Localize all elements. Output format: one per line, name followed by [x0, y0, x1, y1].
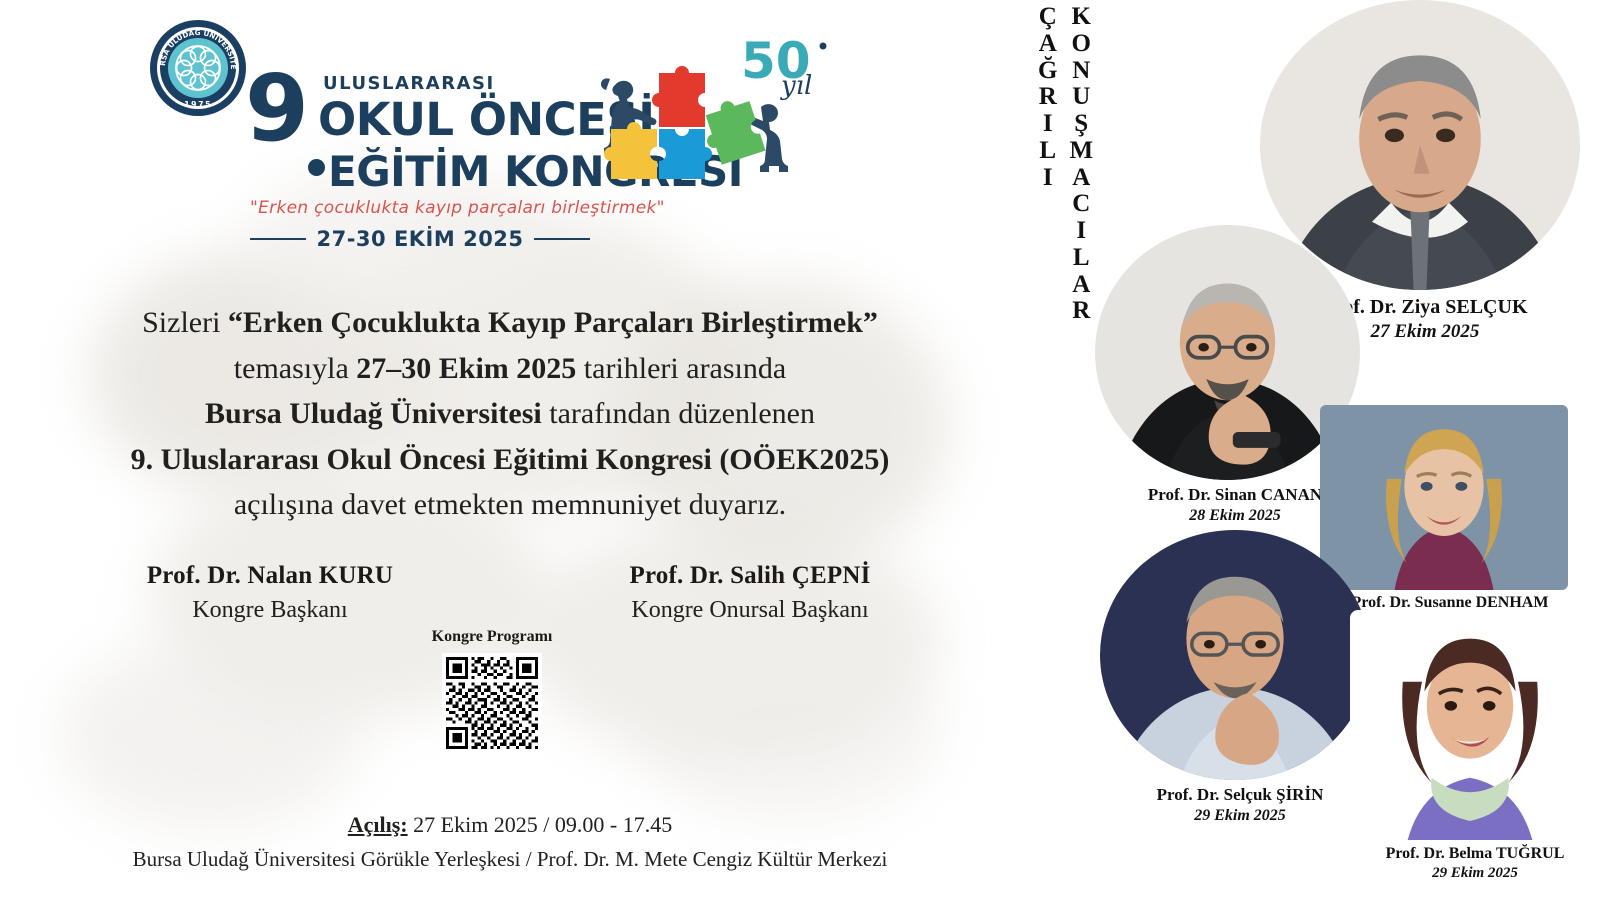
invite-l5-p1: açılışına davet etmekten memnuniyet duya… [234, 488, 786, 521]
speaker-card: Prof. Dr. Belma TUĞRUL 29 Ekim 2025 [1350, 610, 1600, 882]
heading-letter: R [1072, 298, 1090, 325]
puzzle-piece-blue [659, 129, 712, 179]
heading-letter: K [1072, 4, 1091, 31]
invite-l2-p1: temasıyla [234, 352, 356, 385]
congress-dates: 27-30 EKİM 2025 [316, 227, 523, 251]
invite-line-3: Bursa Uludağ Üniversitesi tarafından düz… [40, 391, 980, 437]
invitation-text: Sizleri “Erken Çocuklukta Kayıp Parçalar… [40, 300, 980, 528]
heading-letter: A [1072, 165, 1090, 192]
heading-letter: O [1072, 31, 1091, 58]
date-rule-right [534, 238, 590, 240]
congress-edition-number: 9 [245, 63, 306, 155]
invite-line-5: açılışına davet etmekten memnuniyet duya… [40, 482, 980, 528]
speakers-panel: ÇAĞRILI KONUŞMACILAR Prof. Dr. Ziya SELÇ… [1020, 0, 1600, 900]
speaker-date: 29 Ekim 2025 [1100, 807, 1380, 825]
bullet-dot-icon [308, 159, 325, 176]
heading-letter: L [1073, 245, 1090, 272]
heading-letter: A [1072, 272, 1090, 299]
puzzle-piece-red [652, 66, 705, 127]
invitation-panel: BURSA ULUDAĞ ÜNİVERSİTESİ 1975 9 ULUSLAR… [0, 0, 1020, 900]
heading-letter: L [1039, 138, 1056, 165]
anniversary-50-badge: 50 yıl [735, 22, 845, 102]
signature-row: Prof. Dr. Nalan KURU Kongre Başkanı Prof… [60, 562, 960, 624]
speaker-date: 29 Ekim 2025 [1350, 865, 1600, 882]
signature-role: Kongre Onursal Başkanı [540, 597, 960, 624]
invite-line-2: temasıyla 27–30 Ekim 2025 tarihleri aras… [40, 346, 980, 392]
speaker-card: Prof. Dr. Selçuk ŞİRİN 29 Ekim 2025 [1100, 530, 1380, 825]
heading-letter: A [1039, 31, 1057, 58]
university-seal-logo: BURSA ULUDAĞ ÜNİVERSİTESİ 1975 [148, 18, 248, 118]
speaker-name: Prof. Dr. Belma TUĞRUL [1350, 845, 1600, 863]
puzzle-piece-yellow [604, 122, 657, 179]
heading-letter: N [1072, 58, 1090, 85]
signature-name: Prof. Dr. Nalan KURU [60, 562, 480, 590]
congress-date-bar: 27-30 EKİM 2025 [250, 227, 590, 251]
signature-congress-chair: Prof. Dr. Nalan KURU Kongre Başkanı [60, 562, 480, 624]
opening-value: 27 Ekim 2025 / 09.00 - 17.45 [408, 812, 673, 837]
signature-honorary-chair: Prof. Dr. Salih ÇEPNİ Kongre Onursal Baş… [540, 562, 960, 624]
invite-line-1: Sizleri “Erken Çocuklukta Kayıp Parçalar… [40, 300, 980, 346]
heading-letter: Ğ [1038, 58, 1057, 85]
signature-name: Prof. Dr. Salih ÇEPNİ [540, 562, 960, 590]
heading-letter: I [1076, 218, 1086, 245]
qr-code-image[interactable] [442, 653, 542, 753]
speaker-photo [1350, 610, 1590, 840]
invite-l3-p1: Bursa Uludağ Üniversitesi [205, 397, 542, 430]
invite-l3-p2: tarafından düzenlenen [542, 397, 815, 430]
heading-letter: Ç [1039, 4, 1057, 31]
opening-label: Açılış: [348, 812, 408, 837]
date-rule-left [250, 238, 306, 240]
congress-tagline: "Erken çocuklukta kayıp parçaları birleş… [250, 198, 860, 218]
footer-info: Açılış: 27 Ekim 2025 / 09.00 - 17.45 Bur… [40, 812, 980, 872]
heading-column-cagrili: ÇAĞRILI [1038, 4, 1057, 325]
speakers-heading: ÇAĞRILI KONUŞMACILAR [1038, 4, 1093, 325]
heading-letter: R [1039, 84, 1057, 111]
invite-l4-p1: 9. Uluslararası Okul Öncesi Eğitimi Kong… [131, 443, 890, 476]
invite-line-4: 9. Uluslararası Okul Öncesi Eğitimi Kong… [40, 437, 980, 483]
anniversary-word: yıl [780, 71, 812, 101]
opening-info: Açılış: 27 Ekim 2025 / 09.00 - 17.45 [40, 812, 980, 838]
heading-letter: C [1072, 191, 1090, 218]
signature-role: Kongre Başkanı [60, 597, 480, 624]
invite-l1-p2: “Erken Çocuklukta Kayıp Parçaları Birleş… [228, 306, 878, 339]
invite-l2-p2: 27–30 Ekim 2025 [356, 352, 576, 385]
speaker-photo [1100, 530, 1370, 780]
invite-l1-p1: Sizleri [142, 306, 228, 339]
heading-letter: I [1043, 165, 1053, 192]
heading-letter: Ş [1074, 111, 1088, 138]
heading-letter: I [1043, 111, 1053, 138]
congress-kicker: ULUSLARARASI [323, 73, 495, 94]
header-logo-row: BURSA ULUDAĞ ÜNİVERSİTESİ 1975 9 ULUSLAR… [0, 0, 1020, 245]
heading-letter: M [1069, 138, 1093, 165]
seal-year-text: 1975 [184, 100, 212, 109]
qr-code-block[interactable]: Kongre Programı [392, 628, 592, 753]
qr-code-label: Kongre Programı [392, 628, 592, 646]
speaker-name: Prof. Dr. Selçuk ŞİRİN [1100, 785, 1380, 805]
heading-letter: U [1072, 84, 1090, 111]
invite-l2-p3: tarihleri arasında [576, 352, 786, 385]
venue-info: Bursa Uludağ Üniversitesi Görükle Yerleş… [40, 847, 980, 872]
heading-column-konusmacilar: KONUŞMACILAR [1069, 4, 1093, 325]
